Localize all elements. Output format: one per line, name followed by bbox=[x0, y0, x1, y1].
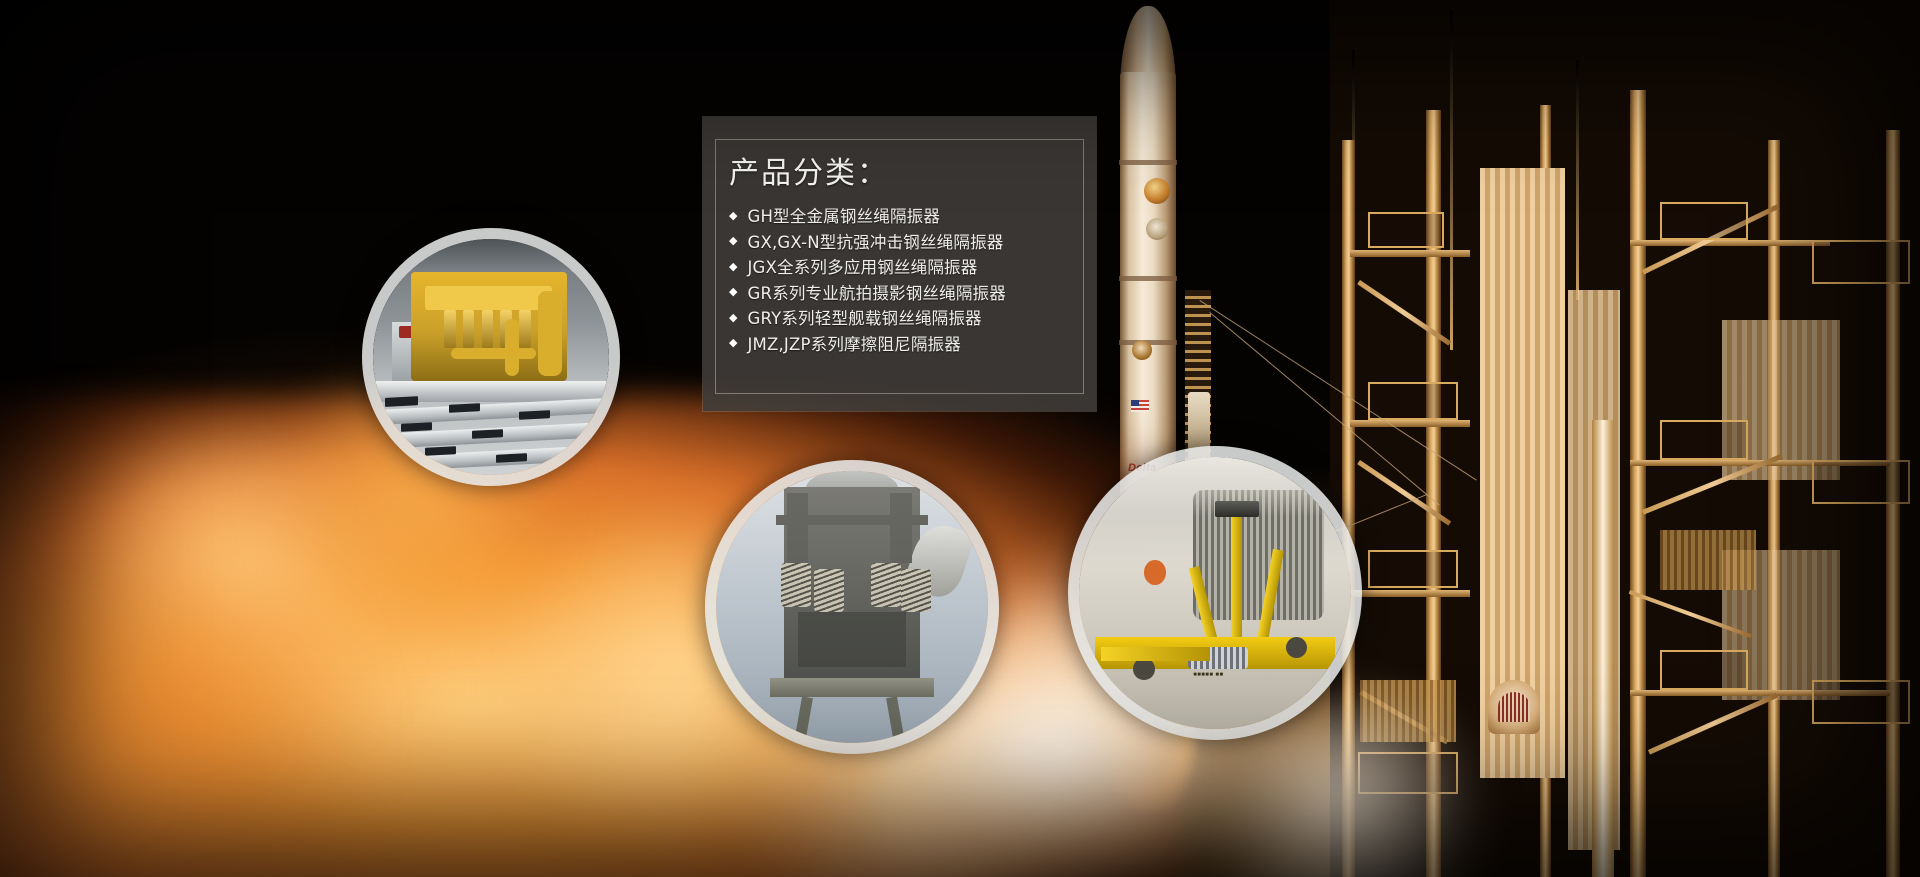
diamond-bullet-icon: ◆ bbox=[729, 236, 737, 247]
secondary-patch-icon bbox=[1132, 340, 1152, 360]
agency-logo-icon bbox=[1146, 218, 1168, 240]
list-item[interactable]: ◆ JMZ,JZP系列摩擦阻尼隔振器 bbox=[729, 337, 1078, 354]
list-item-label: GR系列专业航拍摄影钢丝绳隔振器 bbox=[747, 286, 1005, 303]
diamond-bullet-icon: ◆ bbox=[729, 313, 737, 324]
diamond-bullet-icon: ◆ bbox=[729, 338, 737, 349]
photo-circle-jet-engine: ■■■■■ ■■ bbox=[1068, 446, 1362, 740]
list-item-label: GH型全金属钢丝绳隔振器 bbox=[747, 209, 940, 226]
hero-banner: Delta bbox=[0, 0, 1920, 877]
diamond-bullet-icon: ◆ bbox=[729, 287, 737, 298]
cradle-label: ■■■■■ ■■ bbox=[1193, 672, 1223, 678]
photo-circle-naval-mount bbox=[705, 460, 999, 754]
list-item[interactable]: ◆ GRY系列轻型舰载钢丝绳隔振器 bbox=[729, 311, 1078, 328]
list-item[interactable]: ◆ GH型全金属钢丝绳隔振器 bbox=[729, 209, 1078, 226]
panel-title: 产品分类： bbox=[729, 148, 889, 192]
list-item-label: JMZ,JZP系列摩擦阻尼隔振器 bbox=[747, 337, 960, 354]
photo-circle-diesel-generator bbox=[362, 228, 620, 486]
list-item-label: GRY系列轻型舰载钢丝绳隔振器 bbox=[747, 311, 981, 328]
product-category-panel: 产品分类： ◆ GH型全金属钢丝绳隔振器 ◆ GX,GX-N型抗强冲击钢丝绳隔振… bbox=[703, 117, 1096, 411]
list-item[interactable]: ◆ JGX全系列多应用钢丝绳隔振器 bbox=[729, 260, 1078, 277]
list-item-label: GX,GX-N型抗强冲击钢丝绳隔振器 bbox=[747, 235, 1003, 252]
mission-patch-icon bbox=[1144, 178, 1170, 204]
list-item-label: JGX全系列多应用钢丝绳隔振器 bbox=[747, 260, 977, 277]
diamond-bullet-icon: ◆ bbox=[729, 262, 737, 273]
list-item[interactable]: ◆ GX,GX-N型抗强冲击钢丝绳隔振器 bbox=[729, 235, 1078, 252]
list-item[interactable]: ◆ GR系列专业航拍摄影钢丝绳隔振器 bbox=[729, 286, 1078, 303]
diamond-bullet-icon: ◆ bbox=[729, 211, 737, 222]
product-category-list: ◆ GH型全金属钢丝绳隔振器 ◆ GX,GX-N型抗强冲击钢丝绳隔振器 ◆ JG… bbox=[729, 209, 1078, 362]
